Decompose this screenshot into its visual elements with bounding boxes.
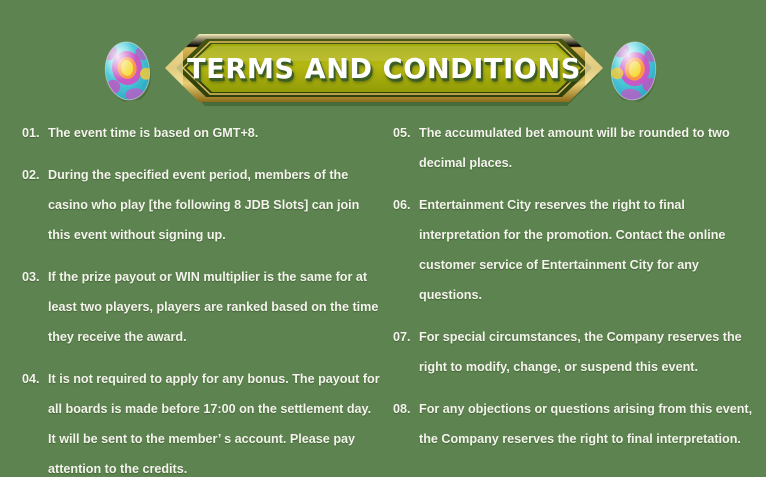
term-text: For any objections or questions arising … bbox=[419, 394, 753, 454]
term-number: 04. bbox=[22, 364, 48, 394]
terms-columns: 01. The event time is based on GMT+8. 02… bbox=[0, 118, 766, 477]
term-item: 04. It is not required to apply for any … bbox=[22, 364, 382, 477]
title-banner: TERMS AND CONDITIONS bbox=[163, 30, 605, 106]
term-item: 08. For any objections or questions aris… bbox=[393, 394, 753, 454]
term-item: 01. The event time is based on GMT+8. bbox=[22, 118, 382, 148]
terms-column-left: 01. The event time is based on GMT+8. 02… bbox=[22, 118, 382, 477]
term-number: 08. bbox=[393, 394, 419, 424]
term-text: During the specified event period, membe… bbox=[48, 160, 382, 250]
term-item: 02. During the specified event period, m… bbox=[22, 160, 382, 250]
term-text: If the prize payout or WIN multiplier is… bbox=[48, 262, 382, 352]
term-number: 02. bbox=[22, 160, 48, 190]
term-number: 01. bbox=[22, 118, 48, 148]
term-text: For special circumstances, the Company r… bbox=[419, 322, 753, 382]
term-number: 03. bbox=[22, 262, 48, 292]
term-number: 06. bbox=[393, 190, 419, 220]
term-text: The event time is based on GMT+8. bbox=[48, 118, 382, 148]
term-item: 07. For special circumstances, the Compa… bbox=[393, 322, 753, 382]
term-text: It is not required to apply for any bonu… bbox=[48, 364, 382, 477]
term-number: 07. bbox=[393, 322, 419, 352]
term-item: 05. The accumulated bet amount will be r… bbox=[393, 118, 753, 178]
terms-column-right: 05. The accumulated bet amount will be r… bbox=[393, 118, 753, 466]
easter-egg-left-icon bbox=[97, 30, 157, 104]
term-item: 03. If the prize payout or WIN multiplie… bbox=[22, 262, 382, 352]
term-text: The accumulated bet amount will be round… bbox=[419, 118, 753, 178]
easter-egg-right-icon bbox=[605, 30, 664, 103]
term-item: 06. Entertainment City reserves the righ… bbox=[393, 190, 753, 310]
term-number: 05. bbox=[393, 118, 419, 148]
term-text: Entertainment City reserves the right to… bbox=[419, 190, 753, 310]
header-area: TERMS AND CONDITIONS bbox=[0, 0, 766, 118]
